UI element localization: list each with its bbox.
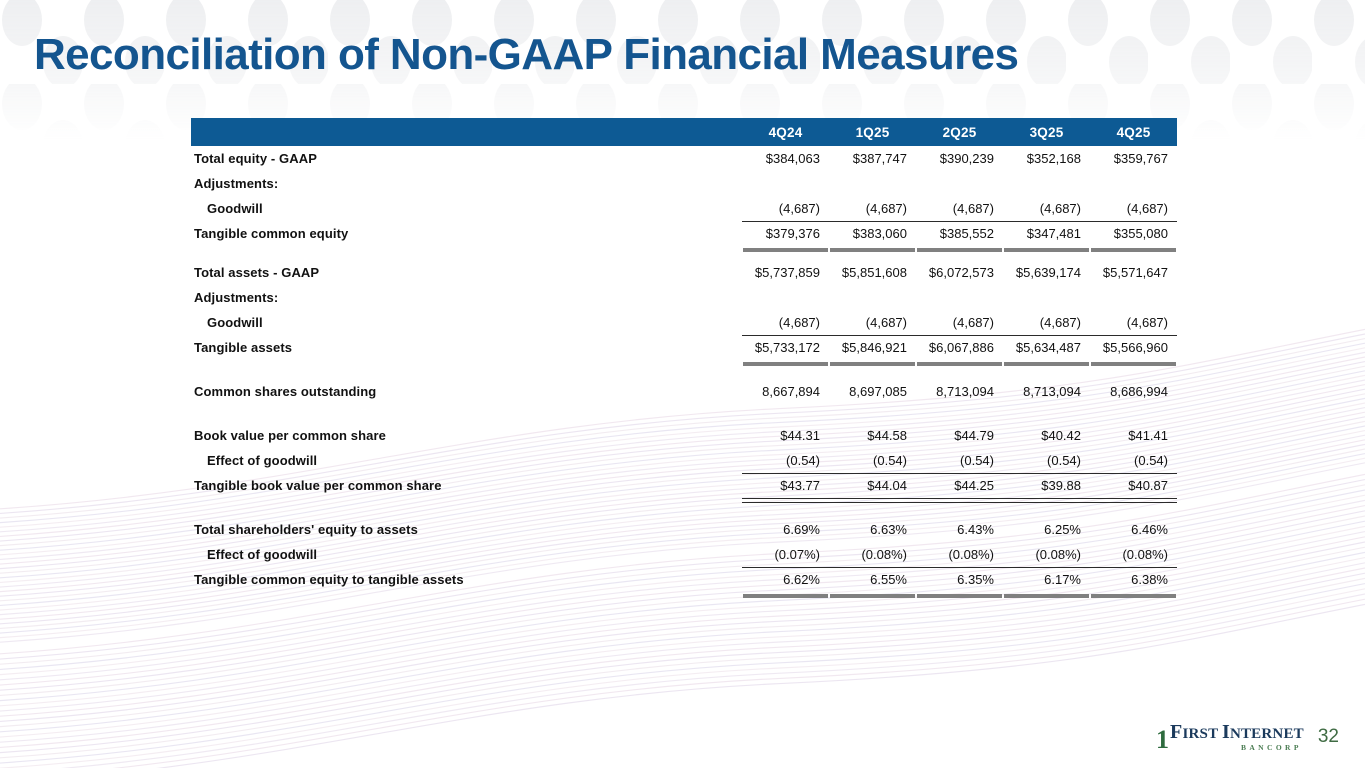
column-header-4q24: 4Q24	[742, 118, 829, 146]
cell-value: $5,639,174	[1003, 260, 1090, 285]
cell-value: 6.69%	[742, 517, 829, 542]
cell-value: (0.08%)	[1003, 542, 1090, 567]
first-internet-bancorp-logo: 1 FIRST INTERNET BANCORP	[1156, 722, 1304, 752]
cell-value	[742, 285, 829, 310]
table-row: Adjustments:	[191, 171, 1177, 196]
cell-value: $347,481	[1003, 221, 1090, 246]
non-gaap-reconciliation-table: 4Q24 1Q25 2Q25 3Q25 4Q25 Total equity - …	[191, 118, 1177, 592]
table-row: Adjustments:	[191, 285, 1177, 310]
cell-value: $5,566,960	[1090, 335, 1177, 360]
cell-value	[916, 171, 1003, 196]
cell-value: $379,376	[742, 221, 829, 246]
table-row: Effect of goodwill(0.54)(0.54)(0.54)(0.5…	[191, 448, 1177, 473]
table-row: Tangible book value per common share$43.…	[191, 473, 1177, 498]
row-label: Effect of goodwill	[191, 448, 742, 473]
financial-table: 4Q24 1Q25 2Q25 3Q25 4Q25 Total equity - …	[191, 118, 1177, 592]
cell-value: $40.42	[1003, 423, 1090, 448]
spacer-cell	[191, 404, 1177, 423]
cell-value: $44.25	[916, 473, 1003, 498]
cell-value: $384,063	[742, 146, 829, 171]
page-title: Reconciliation of Non-GAAP Financial Mea…	[34, 30, 1018, 80]
cell-value: (0.54)	[829, 448, 916, 473]
table-row: Total shareholders' equity to assets6.69…	[191, 517, 1177, 542]
cell-value: 8,686,994	[1090, 379, 1177, 404]
cell-value: $41.41	[1090, 423, 1177, 448]
cell-value: 6.17%	[1003, 567, 1090, 592]
table-header-row: 4Q24 1Q25 2Q25 3Q25 4Q25	[191, 118, 1177, 146]
cell-value: $43.77	[742, 473, 829, 498]
row-label: Adjustments:	[191, 171, 742, 196]
logo-subtitle: BANCORP	[1241, 743, 1302, 752]
cell-value: (0.54)	[1003, 448, 1090, 473]
row-label: Total equity - GAAP	[191, 146, 742, 171]
table-row: Goodwill(4,687)(4,687)(4,687)(4,687)(4,6…	[191, 310, 1177, 335]
page-number: 32	[1318, 726, 1339, 748]
cell-value: $5,737,859	[742, 260, 829, 285]
cell-value	[829, 285, 916, 310]
cell-value: (0.54)	[916, 448, 1003, 473]
cell-value: 6.46%	[1090, 517, 1177, 542]
table-row: Tangible common equity$379,376$383,060$3…	[191, 221, 1177, 246]
cell-value: (0.08%)	[1090, 542, 1177, 567]
cell-value: 6.63%	[829, 517, 916, 542]
cell-value: $6,067,886	[916, 335, 1003, 360]
cell-value	[916, 285, 1003, 310]
cell-value: (4,687)	[742, 310, 829, 335]
logo-numeral-one-icon: 1	[1156, 728, 1169, 752]
cell-value: (0.07%)	[742, 542, 829, 567]
cell-value: (4,687)	[1090, 196, 1177, 221]
table-row: Common shares outstanding8,667,8948,697,…	[191, 379, 1177, 404]
cell-value: (4,687)	[742, 196, 829, 221]
cell-value: $44.58	[829, 423, 916, 448]
cell-value: $359,767	[1090, 146, 1177, 171]
cell-value: 6.35%	[916, 567, 1003, 592]
row-label: Total assets - GAAP	[191, 260, 742, 285]
column-header-2q25: 2Q25	[916, 118, 1003, 146]
row-spacer	[191, 404, 1177, 423]
row-label: Tangible book value per common share	[191, 473, 742, 498]
cell-value: 6.55%	[829, 567, 916, 592]
cell-value: 6.25%	[1003, 517, 1090, 542]
cell-value: $6,072,573	[916, 260, 1003, 285]
cell-value: (0.54)	[742, 448, 829, 473]
cell-value: $387,747	[829, 146, 916, 171]
table-row: Total assets - GAAP$5,737,859$5,851,608$…	[191, 260, 1177, 285]
row-label: Tangible common equity to tangible asset…	[191, 567, 742, 592]
cell-value	[1003, 171, 1090, 196]
cell-value: $5,634,487	[1003, 335, 1090, 360]
cell-value: 6.62%	[742, 567, 829, 592]
table-row: Effect of goodwill(0.07%)(0.08%)(0.08%)(…	[191, 542, 1177, 567]
row-label: Total shareholders' equity to assets	[191, 517, 742, 542]
slide-footer: 1 FIRST INTERNET BANCORP 32	[1156, 722, 1339, 752]
cell-value: $5,851,608	[829, 260, 916, 285]
cell-value: 6.43%	[916, 517, 1003, 542]
cell-value: $383,060	[829, 221, 916, 246]
cell-value: 6.38%	[1090, 567, 1177, 592]
cell-value: $5,733,172	[742, 335, 829, 360]
column-header-1q25: 1Q25	[829, 118, 916, 146]
cell-value	[742, 171, 829, 196]
table-row: Tangible common equity to tangible asset…	[191, 567, 1177, 592]
cell-value: (0.08%)	[829, 542, 916, 567]
cell-value: $44.31	[742, 423, 829, 448]
row-label: Adjustments:	[191, 285, 742, 310]
cell-value: 8,713,094	[1003, 379, 1090, 404]
row-label: Tangible common equity	[191, 221, 742, 246]
row-label: Tangible assets	[191, 335, 742, 360]
cell-value: $44.04	[829, 473, 916, 498]
cell-value: 8,697,085	[829, 379, 916, 404]
column-header-4q25: 4Q25	[1090, 118, 1177, 146]
cell-value: $40.87	[1090, 473, 1177, 498]
cell-value	[1003, 285, 1090, 310]
cell-value	[1090, 171, 1177, 196]
column-header-label	[191, 118, 742, 146]
cell-value: $5,571,647	[1090, 260, 1177, 285]
cell-value: (4,687)	[1003, 196, 1090, 221]
row-label: Goodwill	[191, 196, 742, 221]
cell-value	[829, 171, 916, 196]
table-row: Book value per common share$44.31$44.58$…	[191, 423, 1177, 448]
cell-value: (4,687)	[1090, 310, 1177, 335]
cell-value: $44.79	[916, 423, 1003, 448]
row-label: Common shares outstanding	[191, 379, 742, 404]
cell-value: $355,080	[1090, 221, 1177, 246]
row-label: Goodwill	[191, 310, 742, 335]
cell-value: 8,713,094	[916, 379, 1003, 404]
table-row: Tangible assets$5,733,172$5,846,921$6,06…	[191, 335, 1177, 360]
table-row: Goodwill(4,687)(4,687)(4,687)(4,687)(4,6…	[191, 196, 1177, 221]
logo-wordmark: FIRST INTERNET	[1170, 722, 1304, 742]
cell-value: (0.08%)	[916, 542, 1003, 567]
row-label: Book value per common share	[191, 423, 742, 448]
cell-value: (4,687)	[916, 310, 1003, 335]
cell-value: $5,846,921	[829, 335, 916, 360]
table-row: Total equity - GAAP$384,063$387,747$390,…	[191, 146, 1177, 171]
cell-value	[1090, 285, 1177, 310]
cell-value: (4,687)	[1003, 310, 1090, 335]
cell-value: (4,687)	[916, 196, 1003, 221]
cell-value: $39.88	[1003, 473, 1090, 498]
row-label: Effect of goodwill	[191, 542, 742, 567]
cell-value: 8,667,894	[742, 379, 829, 404]
cell-value: $385,552	[916, 221, 1003, 246]
cell-value: $352,168	[1003, 146, 1090, 171]
cell-value: (0.54)	[1090, 448, 1177, 473]
cell-value: (4,687)	[829, 310, 916, 335]
cell-value: (4,687)	[829, 196, 916, 221]
table-body: Total equity - GAAP$384,063$387,747$390,…	[191, 146, 1177, 592]
cell-value: $390,239	[916, 146, 1003, 171]
column-header-3q25: 3Q25	[1003, 118, 1090, 146]
